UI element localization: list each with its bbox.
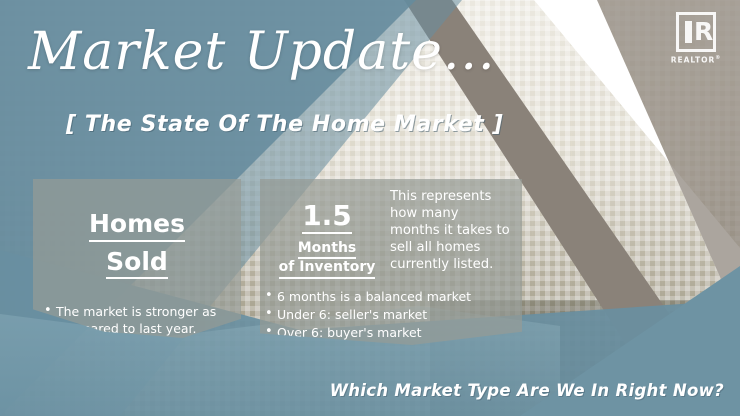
list-item: Under 6: seller's market <box>264 306 514 323</box>
inventory-stat-label-line1: Months <box>298 240 357 260</box>
realtor-mark-icon: R <box>676 12 716 52</box>
homes-sold-heading-line1: Homes <box>89 209 185 242</box>
homes-sold-card: Homes Sold The market is stronger as com… <box>33 179 241 338</box>
inventory-stat-label-line2: of Inventory <box>279 259 376 279</box>
market-update-slide: Market Update... [ The State Of The Home… <box>0 0 740 416</box>
realtor-mark-letter: R <box>694 19 713 44</box>
inventory-explanation: This represents how many months it takes… <box>386 189 512 279</box>
inventory-stat-value: 1.5 <box>302 201 352 234</box>
realtor-trademark: ® <box>715 55 721 61</box>
homes-sold-heading: Homes Sold <box>33 209 241 279</box>
realtor-wordmark-text: REALTOR <box>671 56 716 65</box>
homes-sold-heading-line2: Sold <box>106 247 168 280</box>
inventory-stat: 1.5 Months of Inventory <box>268 189 386 279</box>
slide-tagline: Which Market Type Are We In Right Now? <box>330 381 724 400</box>
realtor-wordmark: REALTOR® <box>670 55 722 65</box>
realtor-logo: R REALTOR® <box>670 12 722 65</box>
slide-title: Market Update... <box>28 22 495 82</box>
inventory-bullets: 6 months is a balanced market Under 6: s… <box>264 288 514 342</box>
inventory-stat-row: 1.5 Months of Inventory This represents … <box>260 179 522 279</box>
slide-subtitle: [ The State Of The Home Market ] <box>66 112 503 137</box>
realtor-mark-bar <box>685 21 692 43</box>
list-item: 6 months is a balanced market <box>264 288 514 305</box>
inventory-stat-label: Months of Inventory <box>268 240 386 279</box>
months-of-inventory-card: 1.5 Months of Inventory This represents … <box>260 179 522 345</box>
